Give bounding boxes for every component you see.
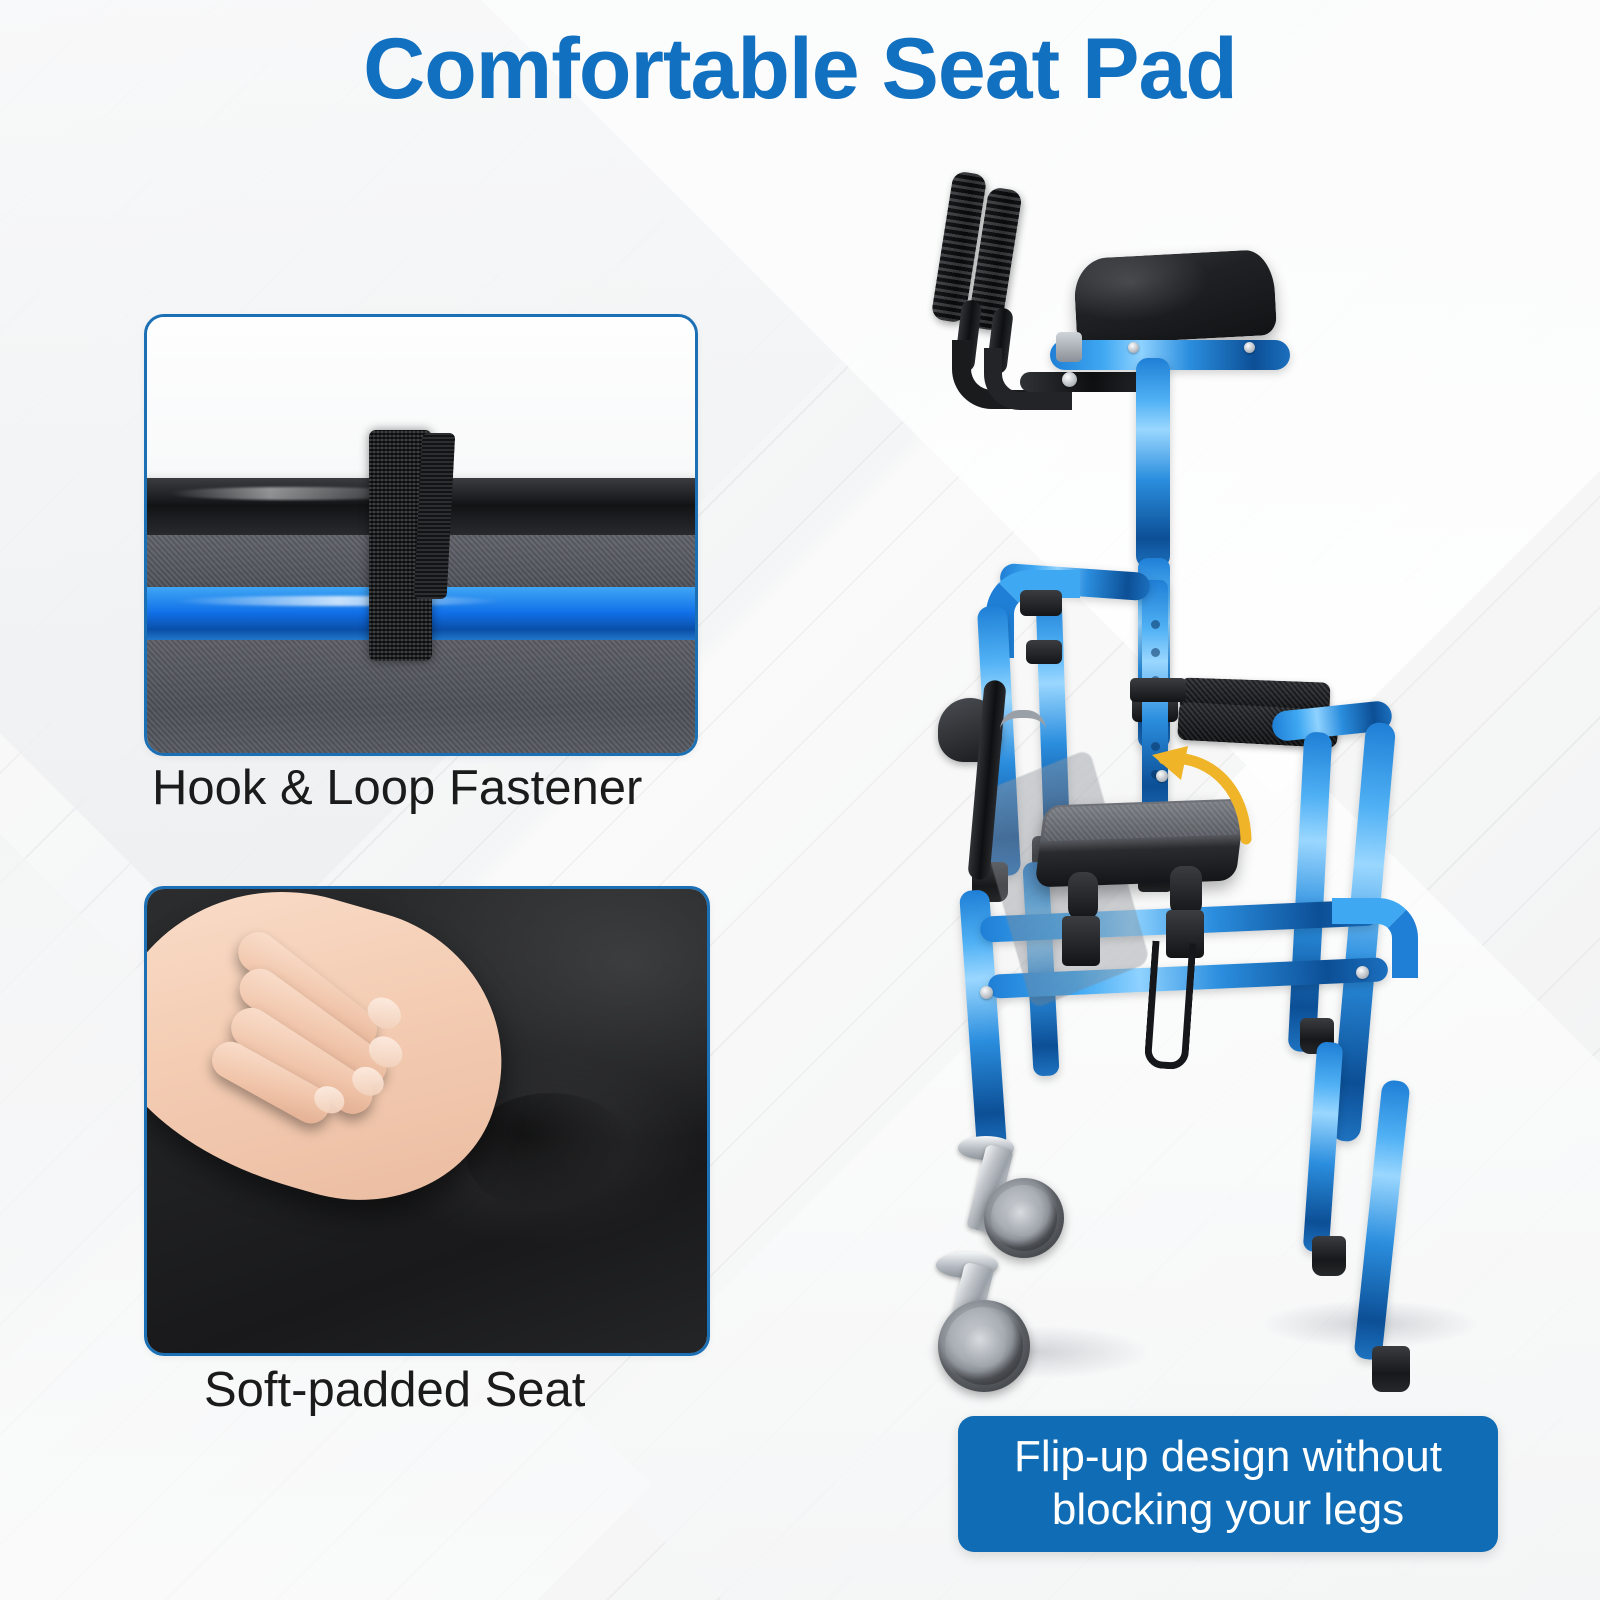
inset-photo-hook-loop-fastener [144,314,698,756]
flip-up-arrow-icon [1148,735,1268,855]
rear-leg-inner [1288,731,1333,1052]
inset-photo-soft-padded-seat [144,886,710,1356]
inset-caption-hook-loop: Hook & Loop Fastener [152,760,642,816]
foam-pad-retaining-clip [1130,678,1186,702]
handlebar-horizontal-arm [1020,372,1152,392]
seat-hinge-right [1170,866,1202,916]
inset-caption-soft-padded-seat: Soft-padded Seat [204,1362,585,1418]
product-image-walker [880,150,1500,1430]
seat-hinge-left [1068,872,1098,920]
frame-screw-1 [1156,770,1168,782]
page-title: Comfortable Seat Pad [0,22,1600,117]
seat-pull-strap [1144,941,1197,1071]
pad-screw-left [1128,342,1139,353]
frame-screw-3 [980,986,993,999]
callout-flip-up-design: Flip-up design without blocking your leg… [958,1416,1498,1552]
adjust-hole-1 [1151,620,1160,629]
upper-torso-pad [1073,249,1277,345]
seat-bracket-left [1062,916,1100,966]
frame-screw-2 [1356,966,1369,979]
clamp-screw-top [1062,372,1077,387]
product-feature-banner: Comfortable Seat Pad Hook & Loop Fastene… [0,0,1600,1600]
rear-tip-inner [1312,1236,1346,1276]
caster-wheel-lower [938,1300,1030,1392]
rear-leg-inner-lower [1303,1041,1344,1252]
center-mast-upper [1136,358,1170,568]
brake-cable [1000,710,1046,758]
rear-tip-right [1372,1346,1410,1392]
height-adjust-knob-lower [1026,640,1062,664]
pad-screw-right [1244,342,1255,353]
adjust-hole-2 [1151,648,1160,657]
height-adjust-knob-upper [1020,590,1062,616]
caster-wheel-upper [984,1178,1064,1258]
callout-text: Flip-up design without blocking your leg… [958,1431,1498,1537]
pad-mount-clamp [1056,332,1082,362]
rail-corner-right [1332,898,1418,978]
